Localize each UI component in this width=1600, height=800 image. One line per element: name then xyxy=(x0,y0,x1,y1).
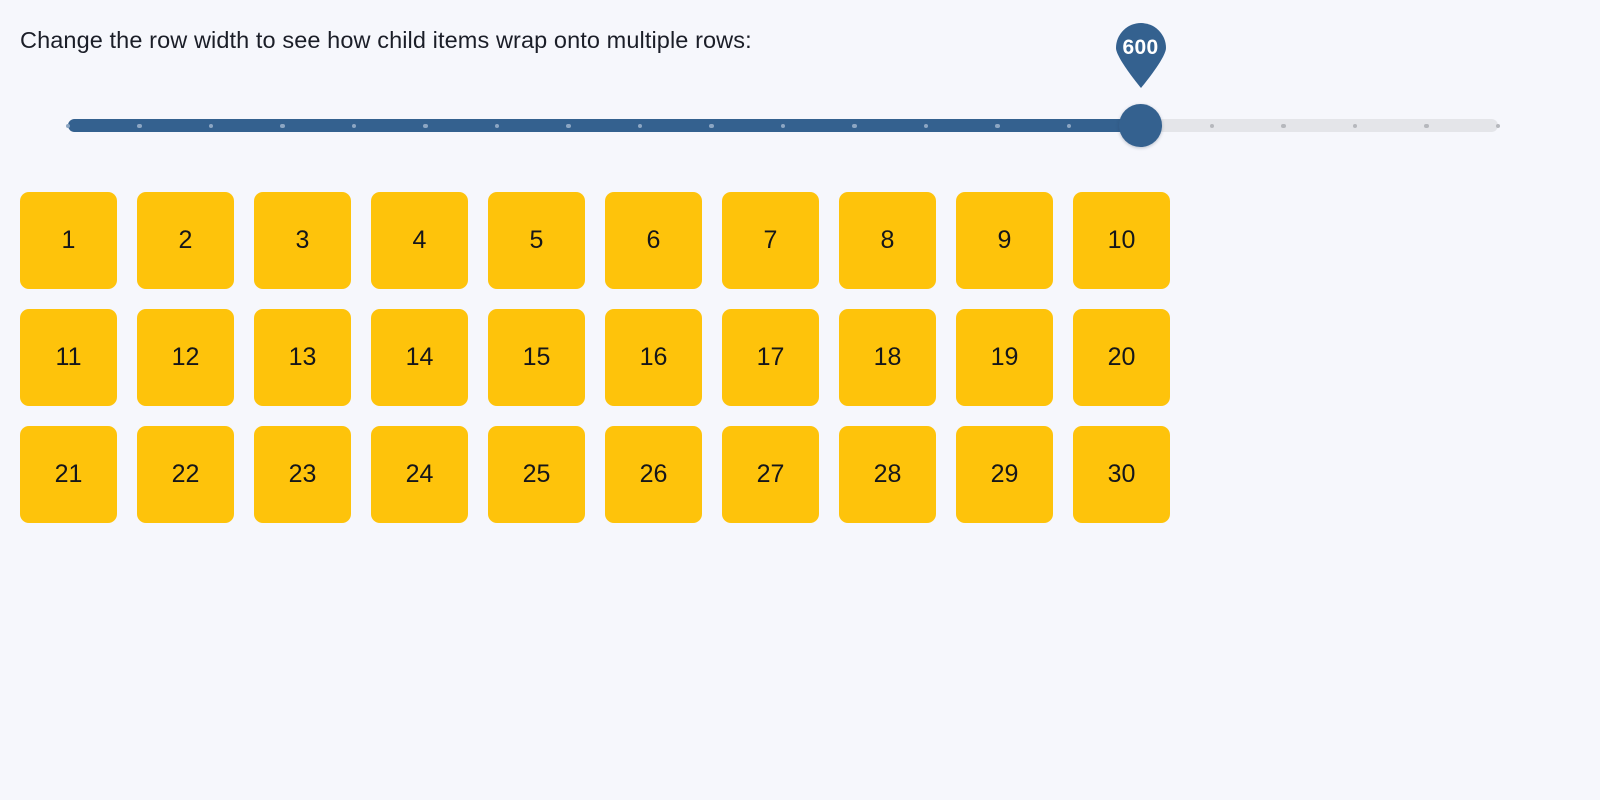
row-width-slider[interactable]: 600 xyxy=(0,0,1600,170)
slider-tick-mark xyxy=(566,124,571,129)
slider-track-fill xyxy=(68,119,1141,132)
flex-item: 12 xyxy=(137,309,234,406)
flex-item: 28 xyxy=(839,426,936,523)
slider-tick-mark xyxy=(280,124,285,129)
slider-tick-mark xyxy=(1496,124,1501,129)
flex-item: 3 xyxy=(254,192,351,289)
flex-item: 24 xyxy=(371,426,468,523)
flex-item: 9 xyxy=(956,192,1053,289)
slider-thumb[interactable] xyxy=(1119,104,1162,147)
flex-item: 26 xyxy=(605,426,702,523)
flex-item: 14 xyxy=(371,309,468,406)
flex-item: 10 xyxy=(1073,192,1170,289)
slider-tick-mark xyxy=(137,124,142,129)
flex-item: 5 xyxy=(488,192,585,289)
flex-item: 20 xyxy=(1073,309,1170,406)
flex-item: 19 xyxy=(956,309,1053,406)
slider-tick-mark xyxy=(423,124,428,129)
slider-tick-mark xyxy=(1281,124,1286,129)
flex-item: 21 xyxy=(20,426,117,523)
slider-tick-mark xyxy=(1424,124,1429,129)
flex-item: 13 xyxy=(254,309,351,406)
slider-value-tooltip: 600 xyxy=(1108,22,1174,88)
flex-item: 27 xyxy=(722,426,819,523)
flex-item: 2 xyxy=(137,192,234,289)
flex-item: 11 xyxy=(20,309,117,406)
flex-item: 23 xyxy=(254,426,351,523)
flex-item: 17 xyxy=(722,309,819,406)
flex-item: 8 xyxy=(839,192,936,289)
flex-item: 4 xyxy=(371,192,468,289)
slider-tick-mark xyxy=(995,124,1000,129)
flex-item: 25 xyxy=(488,426,585,523)
slider-tick-mark xyxy=(709,124,714,129)
flex-item: 18 xyxy=(839,309,936,406)
flex-item: 15 xyxy=(488,309,585,406)
flex-item: 22 xyxy=(137,426,234,523)
flex-item: 1 xyxy=(20,192,117,289)
flex-item: 16 xyxy=(605,309,702,406)
slider-tick-mark xyxy=(852,124,857,129)
flex-container: 1234567891011121314151617181920212223242… xyxy=(20,192,1198,523)
flex-item: 6 xyxy=(605,192,702,289)
flex-item: 30 xyxy=(1073,426,1170,523)
flex-item: 7 xyxy=(722,192,819,289)
slider-value-text: 600 xyxy=(1108,22,1174,74)
flex-item: 29 xyxy=(956,426,1053,523)
